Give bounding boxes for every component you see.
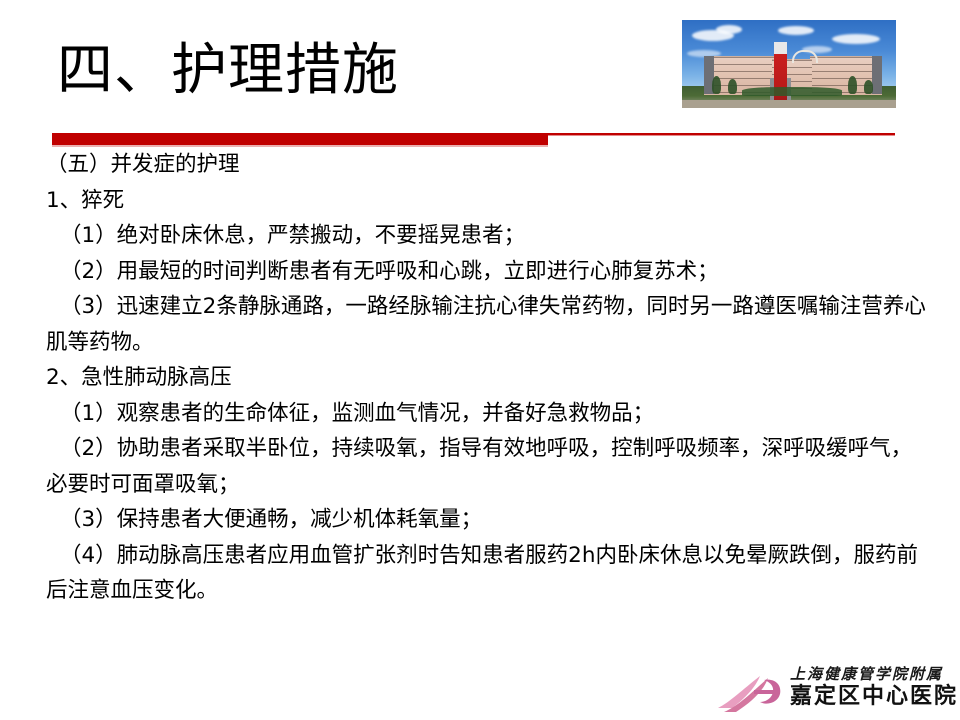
body-content: （五）并发症的护理 1、猝死 （1）绝对卧床休息，严禁搬动，不要摇晃患者； （2…: [46, 147, 932, 609]
cloud-shape: [832, 34, 880, 44]
cloud-shape: [716, 25, 742, 34]
arch-structure: [792, 50, 818, 63]
body-line: 2、急性肺动脉高压: [46, 360, 932, 396]
hedge-row: [742, 87, 842, 96]
body-line: （4）肺动脉高压患者应用血管扩张剂时告知患者服药2h内卧床休息以免晕厥跌倒，服药…: [46, 538, 932, 609]
tree-shape: [848, 76, 857, 94]
hospital-building-photo: [682, 20, 896, 108]
logo-affiliation-text: 上海健康管学院附属: [790, 664, 958, 684]
cloud-shape: [778, 26, 814, 35]
hospital-logo: 上海健康管学院附属 嘉定区中心医院: [716, 664, 936, 716]
tree-shape: [712, 76, 721, 94]
body-line: （3）迅速建立2条静脉通路，一路经脉输注抗心律失常药物，同时另一路遵医嘱输注营养…: [46, 289, 932, 360]
logo-hospital-name: 嘉定区中心医院: [790, 684, 958, 710]
body-line: （1）绝对卧床休息，严禁搬动，不要摇晃患者；: [46, 218, 932, 254]
logo-swoosh-icon: [716, 668, 788, 714]
logo-text-block: 上海健康管学院附属 嘉定区中心医院: [790, 664, 958, 710]
slide-canvas: 四、护理措施 （五）并发症的护理 1、猝死 （1）绝对卧床休息，严禁搬动，不要摇…: [0, 0, 960, 720]
body-line: （五）并发症的护理: [46, 147, 932, 183]
plaza-foreground: [682, 100, 896, 108]
tree-shape: [728, 79, 737, 94]
building-wing-right: [872, 56, 882, 94]
body-line: （2）用最短的时间判断患者有无呼吸和心跳，立即进行心肺复苏术；: [46, 254, 932, 290]
body-line: （1）观察患者的生命体征，监测血气情况，并备好急救物品；: [46, 396, 932, 432]
body-line: 1、猝死: [46, 183, 932, 219]
tree-shape: [864, 80, 873, 94]
divider-thick-bar: [52, 133, 548, 145]
body-line: （3）保持患者大便通畅，减少机体耗氧量；: [46, 502, 932, 538]
body-line: （2）协助患者采取半卧位，持续吸氧，指导有效地呼吸，控制呼吸频率，深呼吸缓呼气，…: [46, 431, 932, 502]
sign-tower-cap: [774, 42, 787, 54]
page-title: 四、护理措施: [57, 42, 399, 101]
